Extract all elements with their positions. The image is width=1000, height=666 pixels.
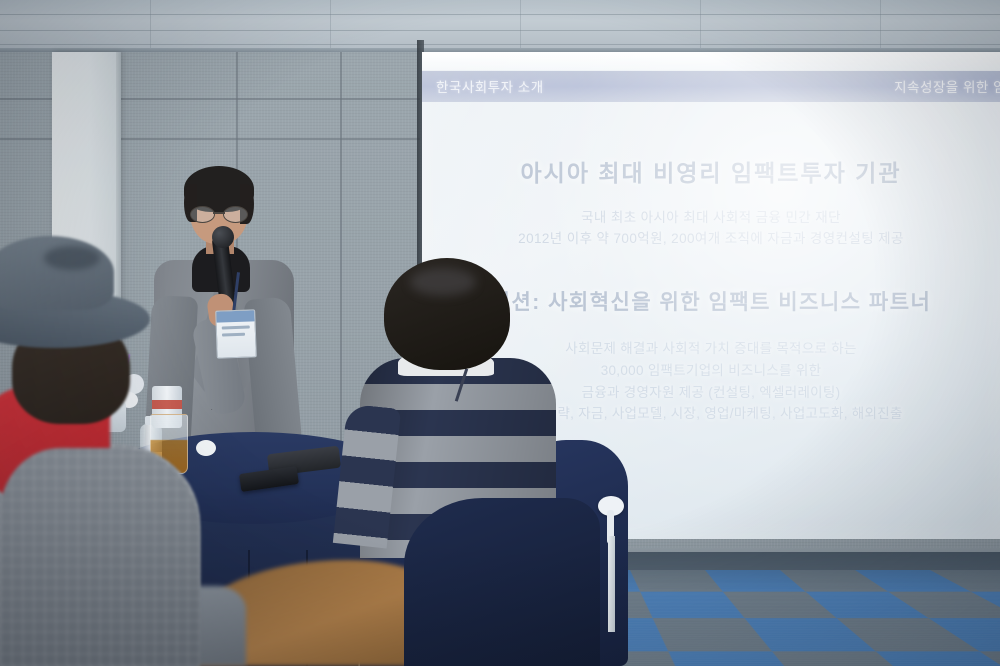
slide-title: 아시아 최대 비영리 임팩트투자 기관 xyxy=(422,154,1000,188)
slide-subtitle-line-1: 국내 최초 아시아 최대 사회적 금융 민간 재단 xyxy=(422,208,1000,229)
ceiling xyxy=(0,0,1000,52)
hair-highlight xyxy=(410,268,476,296)
chair-bow-center xyxy=(598,496,624,516)
glasses-icon xyxy=(190,206,248,221)
wall-column xyxy=(52,52,120,372)
flower-vase xyxy=(100,402,126,432)
conference-photo: 한국사회투자 소개 지속성장을 위한 임 아시아 최대 비영리 임팩트투자 기관… xyxy=(0,0,1000,666)
slide-subtitle-line-2: 2012년 이후 약 700억원, 200여개 조직에 자금과 경영컨설팅 제공 xyxy=(422,229,1000,250)
slide-header-left-text: 한국사회투자 소개 xyxy=(436,76,544,96)
name-badge xyxy=(215,309,257,358)
slide-header-right-text: 지속성장을 위한 임 xyxy=(894,76,1000,96)
screen-top-margin xyxy=(422,52,1000,70)
paper-cup-stack xyxy=(42,400,98,448)
attendee-lower-body xyxy=(404,498,600,666)
napkin xyxy=(196,440,216,456)
slide-subtitle: 국내 최초 아시아 최대 사회적 금융 민간 재단 2012년 이후 약 700… xyxy=(422,208,1000,250)
chair-leg-center xyxy=(608,536,615,632)
plaid-coat-foreground xyxy=(0,448,200,666)
column-edge xyxy=(116,52,121,372)
